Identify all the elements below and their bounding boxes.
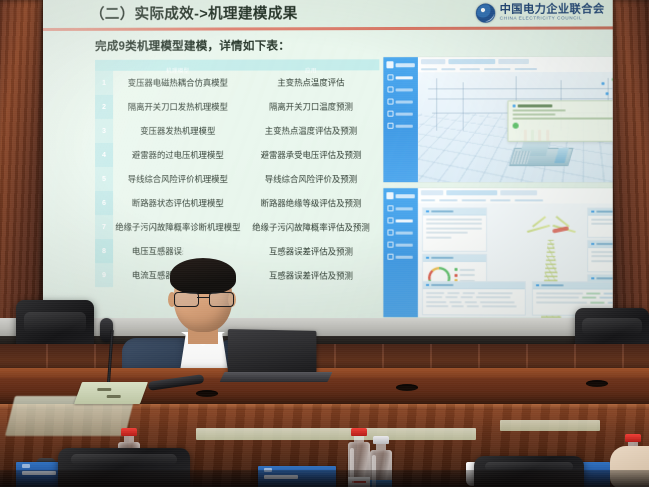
panel-sidebar[interactable] [383, 188, 418, 317]
sidebar-item-5[interactable] [387, 254, 412, 260]
eyeglasses-icon [174, 292, 232, 305]
card-line [426, 232, 468, 234]
row-model: 变压器发热机理模型 [113, 119, 243, 143]
sensor-node-icon[interactable] [601, 82, 604, 85]
menu-label [396, 243, 413, 246]
card-line [591, 218, 612, 220]
panel-logo-icon [386, 61, 393, 68]
menu-icon [387, 229, 393, 235]
table-row: 1 变压器电磁热耦合仿真模型 主变热点温度评估 [95, 70, 379, 95]
table-row [533, 292, 613, 294]
legend-label [460, 268, 475, 270]
cell [482, 305, 517, 307]
tab-3[interactable] [500, 190, 537, 195]
panel-logo [386, 192, 414, 199]
tooltip-line [513, 118, 613, 120]
sensor-node-cluster[interactable] [601, 78, 612, 100]
cell [449, 301, 461, 303]
cell [536, 301, 587, 303]
tooltip-line [513, 114, 556, 116]
menu-label [396, 124, 413, 127]
substation-digital-twin-panel [383, 57, 612, 183]
card-title [431, 284, 453, 287]
row-model: 断路器状态评估机理模型 [113, 191, 243, 215]
logo-name-en: CHINA ELECTRICITY COUNCIL [500, 17, 605, 22]
row-application: 主变热点温度评估 [243, 70, 380, 94]
cell-link[interactable] [608, 301, 613, 303]
cell [467, 305, 479, 307]
row-number: 2 [95, 95, 113, 119]
row-model: 绝缘子污闪故障概率诊断机理模型 [113, 215, 243, 239]
cell [463, 292, 475, 294]
slide-title: （二）实际成效->机理建模成果 [90, 2, 298, 24]
menu-label [396, 219, 413, 222]
sidebar-item-3[interactable] [387, 229, 412, 235]
menu-icon [387, 111, 393, 117]
card-icon [536, 284, 539, 287]
donut-legend [455, 268, 475, 282]
subtab-4[interactable] [484, 68, 511, 71]
table-row: 4 避雷器的过电压机理模型 避雷器承受电压评估及预测 [95, 143, 379, 167]
menu-icon [387, 99, 393, 105]
tab-1[interactable] [421, 190, 443, 195]
row-number: 5 [95, 167, 113, 191]
legend-swatch [455, 273, 458, 276]
cable-grommet [586, 380, 608, 387]
row-model: 隔离开关刀口发热机理模型 [113, 95, 243, 119]
table-row: 2 隔离开关刀口发热机理模型 隔离开关刀口温度预测 [95, 95, 379, 119]
desk-pad [500, 420, 600, 431]
panel-logo [386, 61, 414, 68]
dashboard-canvas [418, 203, 613, 318]
card-right-2[interactable] [587, 240, 613, 273]
sensor-node-icon[interactable] [606, 92, 609, 95]
model-table: 机理模型 应用 1 变压器电磁热耦合仿真模型 主变热点温度评估 2 隔离开关刀口… [95, 59, 379, 288]
row-number: 6 [95, 191, 113, 215]
cell [478, 292, 513, 294]
cell [536, 296, 579, 298]
row-application: 避雷器承受电压评估及预测 [243, 143, 380, 167]
cell-status [590, 301, 604, 303]
cell [480, 301, 515, 303]
tab-1[interactable] [421, 59, 445, 64]
menu-icon [387, 74, 393, 80]
menu-icon [387, 205, 393, 211]
card-device-info[interactable] [422, 207, 487, 251]
menu-label [396, 255, 413, 258]
conference-room-scene: （二）实际成效->机理建模成果 中国电力企业联合会 CHINA ELECTRIC… [0, 0, 649, 487]
panel-menu[interactable] [387, 205, 412, 259]
header-cell-no [95, 60, 113, 71]
sidebar-item-2[interactable] [387, 86, 412, 92]
table-row: 7 绝缘子污闪故障概率诊断机理模型 绝缘子污闪故障概率评估及预测 [95, 215, 379, 239]
substation-3d-view[interactable] [418, 72, 613, 182]
card-icon [426, 257, 429, 260]
sensor-node-icon[interactable] [612, 78, 613, 81]
legend-swatch [455, 268, 458, 271]
row-number: 3 [95, 119, 113, 143]
sidebar-item-1[interactable] [387, 74, 412, 80]
panel-body [418, 188, 613, 318]
sidebar-item-5[interactable] [387, 123, 412, 129]
subtab-3[interactable] [462, 199, 486, 202]
council-emblem-icon [476, 3, 495, 22]
table-row [423, 292, 525, 294]
menu-icon [387, 217, 393, 223]
busbar-icon [428, 88, 613, 90]
menu-icon [387, 242, 393, 248]
legend-item [455, 273, 475, 276]
row-number: 4 [95, 143, 113, 167]
sidebar-item-4[interactable] [387, 111, 412, 117]
card-icon [591, 277, 594, 280]
device-info-tooltip[interactable] [507, 100, 612, 142]
row-application: 主变热点温度评估及预测 [243, 119, 380, 143]
bottle-cap [373, 436, 389, 444]
row-model: 避雷器的过电压机理模型 [113, 143, 243, 167]
card-title [431, 210, 453, 213]
panel-sidebar[interactable] [383, 57, 418, 182]
tooltip-title-text [518, 105, 553, 108]
bottle-cap [351, 428, 367, 436]
table-row [423, 301, 525, 303]
table-header-row: 机理模型 应用 [95, 59, 379, 71]
subtab-5[interactable] [515, 68, 537, 71]
cell-status [586, 292, 600, 294]
laptop-base [220, 372, 333, 382]
table-row [423, 296, 525, 298]
header-cell-application: 应用 [243, 59, 380, 70]
cell-status [582, 297, 596, 299]
card-title [596, 210, 613, 213]
cell [536, 292, 583, 294]
bottle-cap [625, 434, 641, 442]
cell [426, 301, 446, 303]
card-line [426, 227, 481, 229]
card-title [596, 243, 613, 246]
title-divider [43, 26, 613, 31]
menu-icon [387, 123, 393, 129]
panel-logo-text [396, 63, 415, 67]
cell [447, 292, 459, 294]
cell [445, 296, 457, 298]
card-header [533, 282, 613, 289]
table-row: 3 变压器发热机理模型 主变热点温度评估及预测 [95, 119, 379, 143]
table-row: 5 导线综合风险评价机理模型 导线综合风险评价及预测 [95, 167, 379, 191]
foreground-shadow [0, 470, 649, 487]
subtab-1[interactable] [421, 68, 437, 71]
pylon-icon [436, 78, 437, 130]
subtab-1[interactable] [421, 199, 435, 202]
cell [426, 296, 442, 298]
transmission-tower-dashboard-panel [383, 188, 612, 318]
row-application: 断路器绝缘等级评估及预测 [243, 191, 380, 215]
desk-pad [74, 382, 148, 404]
card-line [591, 251, 612, 253]
subtab-2[interactable] [441, 68, 455, 71]
card-line [426, 222, 481, 224]
card-title [596, 277, 613, 280]
slide-subtitle: 完成9类机理模型建模，详情如下表： [95, 37, 290, 54]
menu-icon [387, 86, 393, 92]
hair [170, 258, 236, 294]
tooltip-title-row [513, 104, 613, 107]
tower-arm [527, 224, 550, 232]
table-row: 8 电压互感器误差机理模型 互感器误差评估及预测 [95, 239, 379, 264]
card-line [591, 223, 612, 225]
sidebar-item-2[interactable] [387, 217, 412, 223]
tab-2-active[interactable] [448, 59, 495, 64]
row-number: 9 [95, 263, 113, 287]
menu-label [396, 88, 413, 91]
logo-text: 中国电力企业联合会 CHINA ELECTRICITY COUNCIL [500, 4, 605, 22]
legend-item [455, 268, 475, 271]
menu-label [396, 100, 413, 103]
card-line [591, 255, 612, 257]
menu-label [396, 76, 413, 79]
row-number: 1 [95, 71, 113, 95]
subtab-3[interactable] [460, 68, 480, 71]
pylon-icon [463, 82, 464, 130]
card-line [426, 218, 481, 220]
panel-logo-text [396, 194, 415, 198]
logo-name-cn: 中国电力企业联合会 [500, 4, 605, 15]
cell-link[interactable] [604, 292, 613, 294]
cell [426, 305, 448, 307]
card-title [431, 257, 453, 260]
menu-label [396, 231, 413, 234]
subtab-4[interactable] [490, 199, 510, 202]
card-icon [426, 284, 429, 287]
card-title [541, 284, 563, 287]
row-application: 互感器误差评估及预测 [243, 239, 380, 263]
sidebar-item-4[interactable] [387, 242, 412, 248]
row-application: 绝缘子污闪故障概率评估及预测 [243, 215, 380, 239]
header-cell-model: 机理模型 [113, 60, 242, 71]
legend-label [460, 274, 475, 276]
laptop-screen [228, 329, 317, 375]
card-line [591, 260, 612, 262]
sidebar-item-1[interactable] [387, 205, 412, 211]
row-model: 电压互感器误差机理模型 [113, 239, 243, 263]
organization-logo: 中国电力企业联合会 CHINA ELECTRICITY COUNCIL [476, 3, 604, 23]
table-row: 6 断路器状态评估机理模型 断路器绝缘等级评估及预测 [95, 191, 379, 215]
card-header [423, 208, 486, 215]
bottle-cap [121, 428, 137, 436]
card-header [588, 241, 613, 248]
cell [461, 296, 473, 298]
card-right-1[interactable] [587, 208, 613, 238]
cable-grommet [196, 390, 218, 397]
wood-panel-left [0, 0, 46, 340]
row-model: 变压器电磁热耦合仿真模型 [113, 71, 243, 95]
row-number: 7 [95, 215, 113, 239]
table-row [533, 301, 613, 303]
table-row [533, 296, 613, 298]
desk-pad [196, 428, 476, 440]
subtab-5[interactable] [515, 199, 544, 202]
row-number: 8 [95, 239, 113, 263]
tab-2-active[interactable] [446, 190, 497, 195]
menu-label [396, 112, 413, 115]
card-header [423, 255, 486, 262]
card-icon [426, 210, 429, 213]
card-line [426, 236, 451, 238]
panel-logo-icon [386, 192, 393, 199]
card-icon [591, 210, 594, 213]
cell-link[interactable] [599, 297, 612, 299]
menu-label [396, 207, 413, 210]
cell [426, 292, 444, 294]
tooltip-dot-icon [513, 104, 516, 107]
row-application: 导线综合风险评价及预测 [243, 167, 380, 191]
row-application: 隔离开关刀口温度预测 [243, 95, 380, 119]
cable-grommet [396, 384, 418, 391]
card-header [588, 209, 613, 216]
tooltip-status-badge [513, 122, 519, 128]
card-data-table-left[interactable] [422, 281, 526, 316]
panel-body [418, 57, 613, 183]
card-icon [591, 243, 594, 246]
tooltip-line [513, 109, 566, 111]
cell [465, 301, 477, 303]
subtab-2[interactable] [439, 199, 457, 202]
card-header [423, 282, 525, 289]
panel-menu[interactable] [387, 74, 412, 128]
table-row [423, 305, 525, 307]
cell [476, 296, 511, 298]
row-model: 导线综合风险评价机理模型 [113, 167, 243, 191]
tab-3[interactable] [498, 59, 529, 64]
sidebar-item-3[interactable] [387, 99, 412, 105]
cell [451, 305, 463, 307]
menu-icon [387, 254, 393, 260]
